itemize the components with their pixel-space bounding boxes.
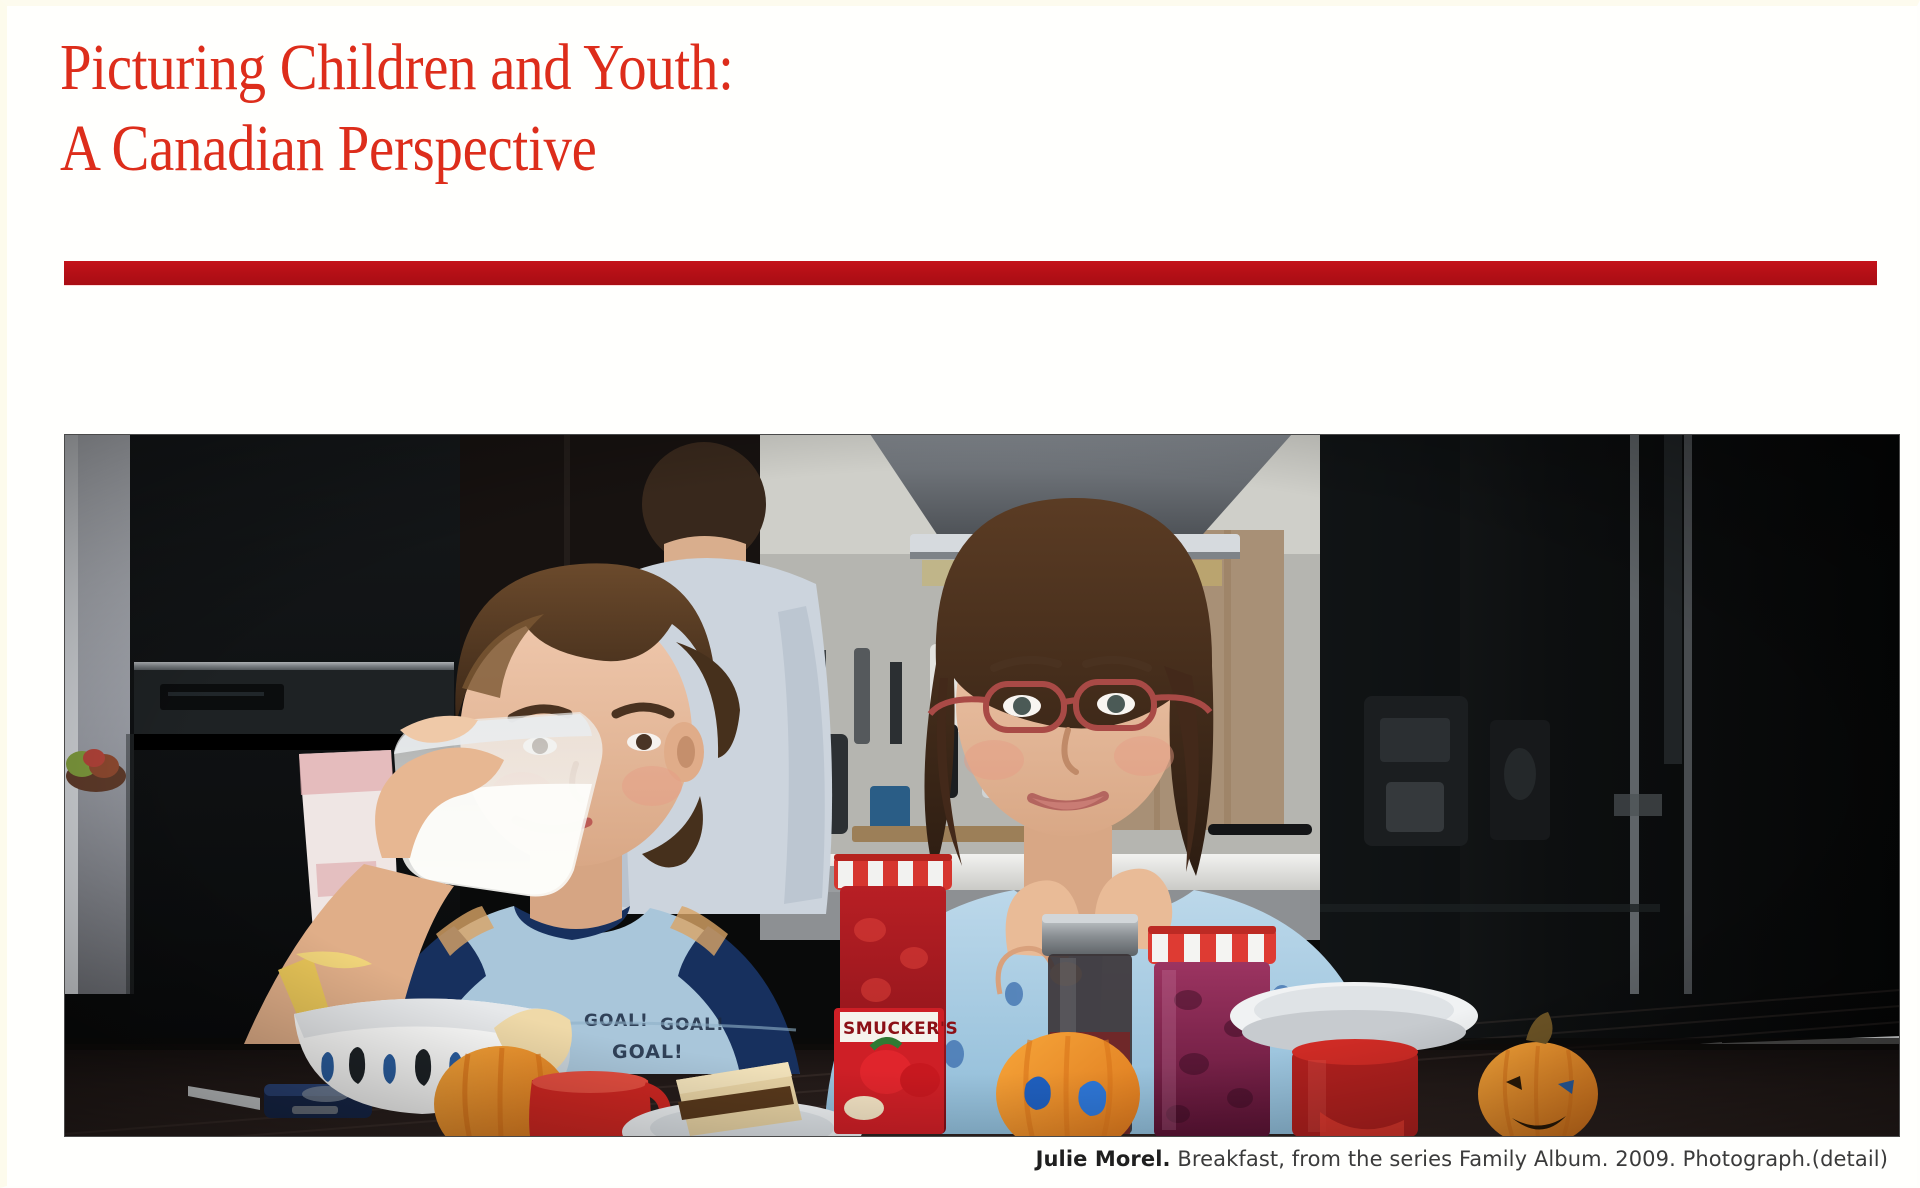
page-canvas: Picturing Children and Youth: A Canadian… — [0, 0, 1920, 1188]
page-title: Picturing Children and Youth: A Canadian… — [60, 28, 734, 189]
photo-caption: Julie Morel. Breakfast, from the series … — [1036, 1147, 1888, 1171]
caption-artist: Julie Morel. — [1036, 1147, 1171, 1171]
caption-details: Breakfast, from the series Family Album.… — [1171, 1147, 1888, 1171]
title-divider-rule — [64, 261, 1877, 285]
featured-photograph: GOAL! GOAL! GOAL! — [64, 434, 1900, 1137]
photograph-illustration: GOAL! GOAL! GOAL! — [64, 434, 1900, 1137]
